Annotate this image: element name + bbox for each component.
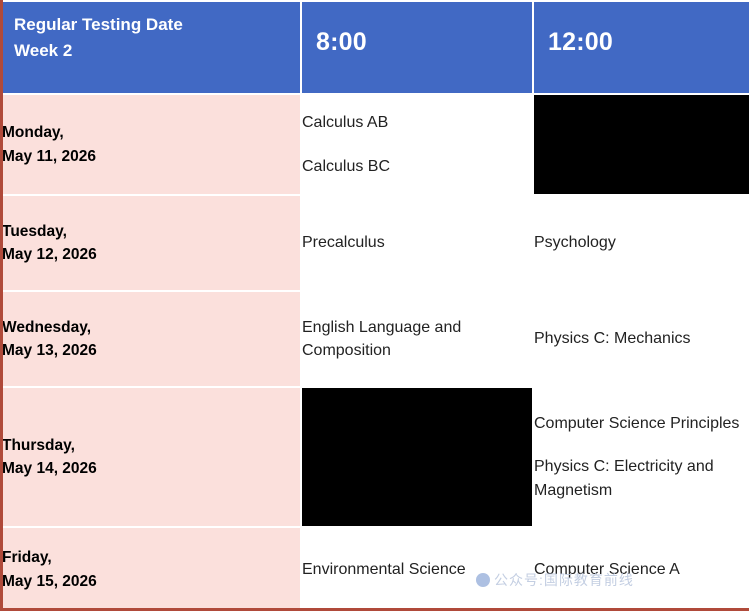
- left-border-rule: [0, 0, 3, 611]
- exam-name: Precalculus: [302, 231, 532, 254]
- exam-name: Computer Science A: [534, 558, 749, 581]
- exam-name: Calculus AB: [302, 111, 532, 134]
- exam-name: Psychology: [534, 231, 749, 254]
- ap-exam-schedule-table: Regular Testing Date Week 2 8:00 12:00 M…: [0, 0, 749, 613]
- exam-name: Physics C: Mechanics: [534, 327, 749, 350]
- exam-cell-thursday-12: Computer Science Principles Physics C: E…: [533, 387, 749, 527]
- exam-cell-tuesday-8: Precalculus: [301, 195, 533, 291]
- exam-name: Environmental Science: [302, 558, 532, 581]
- day-name: Monday,: [2, 121, 300, 144]
- day-name: Friday,: [2, 546, 300, 569]
- header-time-label-8: 8:00: [302, 2, 532, 57]
- header-title-line2: Week 2: [14, 38, 290, 64]
- table-row: Monday, May 11, 2026 Calculus AB Calculu…: [1, 94, 749, 195]
- day-date: May 12, 2026: [2, 243, 300, 266]
- table-row: Tuesday, May 12, 2026 Precalculus Psycho…: [1, 195, 749, 291]
- blocked-cell-thursday-8: [301, 387, 533, 527]
- day-date: May 13, 2026: [2, 339, 300, 362]
- exam-name: Physics C: Electricity and Magnetism: [534, 455, 749, 501]
- blocked-cell-monday-12: [533, 94, 749, 195]
- exam-cell-wednesday-8: English Language and Composition: [301, 291, 533, 387]
- ap-exam-schedule-sheet: Regular Testing Date Week 2 8:00 12:00 M…: [0, 0, 749, 611]
- header-time-label-12: 12:00: [534, 2, 749, 57]
- exam-cell-friday-12: Computer Science A: [533, 527, 749, 612]
- header-cell-time-12: 12:00: [533, 1, 749, 94]
- exam-name: English Language and Composition: [302, 316, 532, 362]
- day-date: May 11, 2026: [2, 145, 300, 168]
- day-name: Thursday,: [2, 434, 300, 457]
- date-cell-tuesday: Tuesday, May 12, 2026: [1, 195, 301, 291]
- header-title-line1: Regular Testing Date: [14, 12, 290, 38]
- date-cell-thursday: Thursday, May 14, 2026: [1, 387, 301, 527]
- date-cell-friday: Friday, May 15, 2026: [1, 527, 301, 612]
- day-name: Tuesday,: [2, 220, 300, 243]
- date-cell-wednesday: Wednesday, May 13, 2026: [1, 291, 301, 387]
- day-date: May 14, 2026: [2, 457, 300, 480]
- date-cell-monday: Monday, May 11, 2026: [1, 94, 301, 195]
- exam-name: Calculus BC: [302, 155, 532, 178]
- table-header-row: Regular Testing Date Week 2 8:00 12:00: [1, 1, 749, 94]
- header-cell-date: Regular Testing Date Week 2: [1, 1, 301, 94]
- table-row: Thursday, May 14, 2026 Computer Science …: [1, 387, 749, 527]
- exam-name: Computer Science Principles: [534, 412, 749, 435]
- exam-cell-monday-8: Calculus AB Calculus BC: [301, 94, 533, 195]
- exam-cell-wednesday-12: Physics C: Mechanics: [533, 291, 749, 387]
- table-row: Friday, May 15, 2026 Environmental Scien…: [1, 527, 749, 612]
- table-row: Wednesday, May 13, 2026 English Language…: [1, 291, 749, 387]
- exam-cell-tuesday-12: Psychology: [533, 195, 749, 291]
- day-name: Wednesday,: [2, 316, 300, 339]
- exam-cell-friday-8: Environmental Science: [301, 527, 533, 612]
- header-cell-time-8: 8:00: [301, 1, 533, 94]
- day-date: May 15, 2026: [2, 570, 300, 593]
